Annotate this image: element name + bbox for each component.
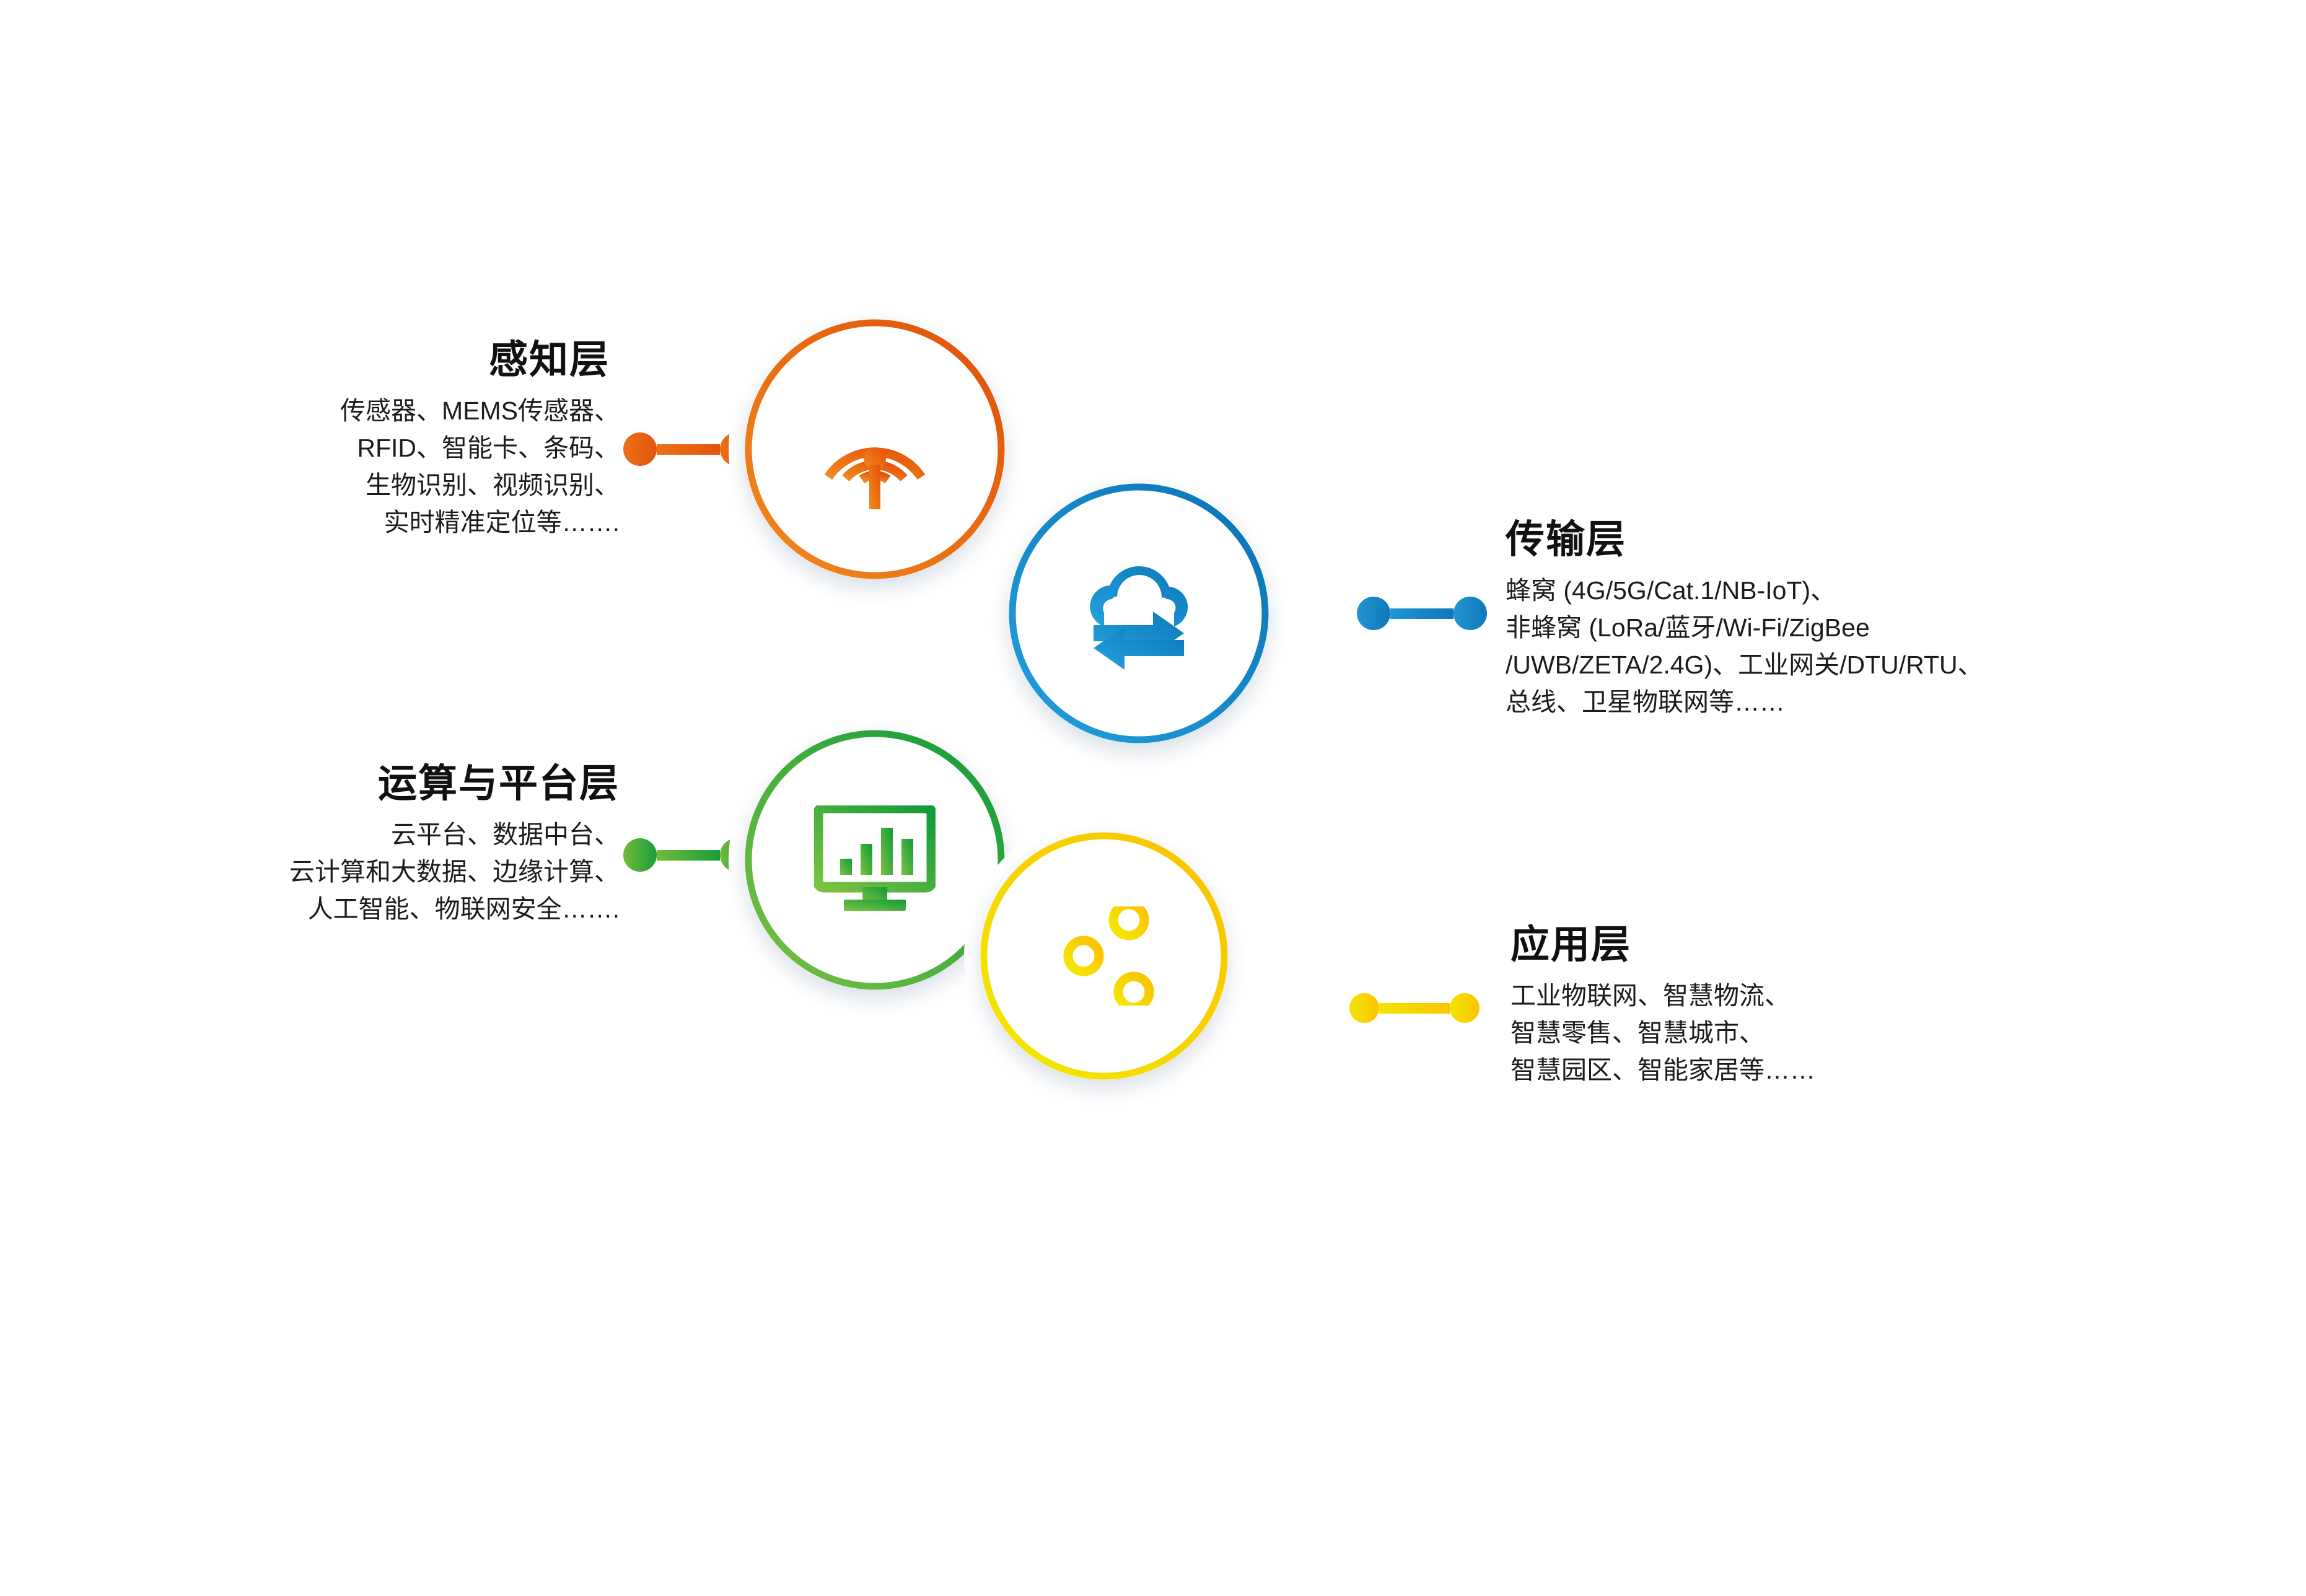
settings-sliders-icon [980,832,1228,1080]
connector-application [1349,993,1480,1023]
iot-architecture-diagram: 感知层 传感器、MEMS传感器、 RFID、智能卡、条码、 生物识别、视频识别、… [0,0,2306,1596]
connector-sensing [623,432,753,466]
connector-line [657,850,720,861]
layer-description-compute: 云平台、数据中台、 云计算和大数据、边缘计算、 人工智能、物联网安全……. [112,817,620,928]
node-compute[interactable] [745,730,1005,990]
monitor-bar-chart-icon [745,730,1005,990]
connector-dot-outer [1453,597,1487,630]
text-block-transport: 传输层 蜂窝 (4G/5G/Cat.1/NB-IoT)、 非蜂窝 (LoRa/蓝… [1506,519,2243,721]
connector-compute [623,838,753,872]
layer-description-sensing: 传感器、MEMS传感器、 RFID、智能卡、条码、 生物识别、视频识别、 实时精… [186,393,620,541]
connector-dot-inner [1349,993,1379,1023]
text-block-compute: 运算与平台层 云平台、数据中台、 云计算和大数据、边缘计算、 人工智能、物联网安… [112,763,620,928]
node-sensing[interactable] [745,319,1005,579]
layer-title-transport: 传输层 [1506,519,2243,560]
connector-dot-outer [623,432,657,466]
layer-title-compute: 运算与平台层 [112,763,620,804]
layer-title-application: 应用层 [1510,924,2130,965]
node-application[interactable] [980,832,1228,1080]
cloud-data-exchange-icon [1009,483,1269,743]
connector-line [1379,1003,1450,1014]
connector-line [657,444,720,455]
layer-description-application: 工业物联网、智慧物流、 智慧零售、智慧城市、 智慧园区、智能家居等…… [1510,978,2130,1089]
text-block-application: 应用层 工业物联网、智慧物流、 智慧零售、智慧城市、 智慧园区、智能家居等…… [1510,924,2130,1089]
layer-title-sensing: 感知层 [186,340,610,380]
text-block-sensing: 感知层 传感器、MEMS传感器、 RFID、智能卡、条码、 生物识别、视频识别、… [186,340,620,541]
layer-description-transport: 蜂窝 (4G/5G/Cat.1/NB-IoT)、 非蜂窝 (LoRa/蓝牙/Wi… [1506,572,2243,721]
connector-dot-inner [1357,597,1390,630]
connector-line [1390,608,1453,619]
connector-dot-outer [623,838,657,872]
connector-dot-outer [1450,993,1480,1023]
connector-transport [1357,597,1487,630]
node-transport[interactable] [1009,483,1269,743]
antenna-signal-icon [745,319,1005,579]
